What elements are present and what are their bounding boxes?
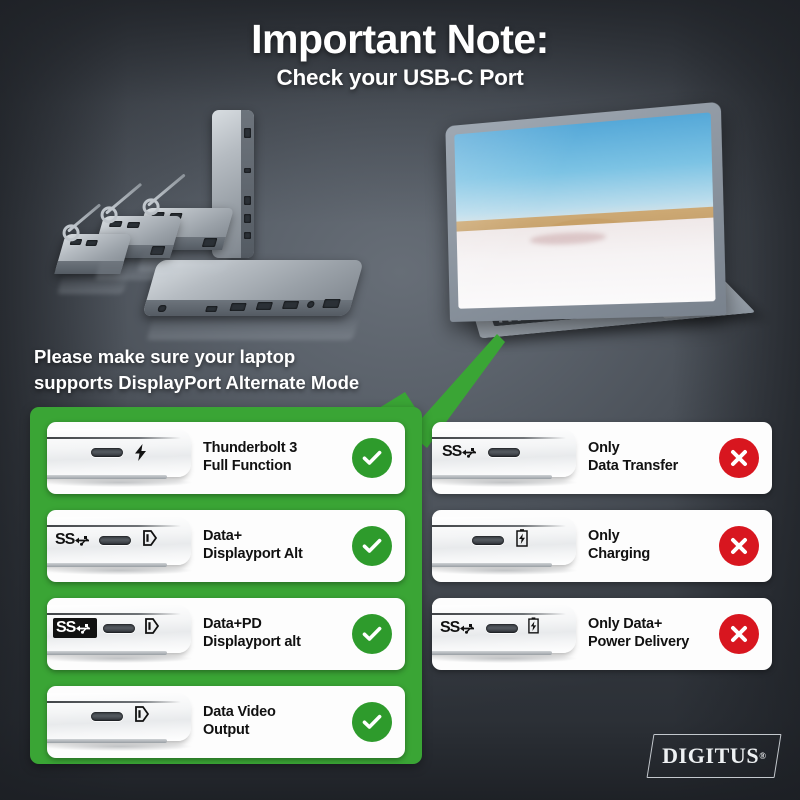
device-photo [47,686,197,758]
device-photo: SS [432,422,582,494]
poster-canvas: Important Note: Check your USB-C Port [0,0,800,800]
superspeed-usb-icon: SS [440,620,478,636]
mode-label: Data+ Displayport Alt [197,528,352,563]
supported-modes-list: Thunderbolt 3 Full Function SS [47,422,405,758]
cross-circle-icon [719,438,759,478]
laptop-photo [442,126,742,358]
mode-label: Data+PD Displayport alt [197,616,352,651]
mode-row-data-pd-displayport-alt[interactable]: SS Data+PD Displayport alt [47,598,405,670]
usb-c-port-icon [486,624,518,633]
superspeed-usb-icon-inverted: SS [53,618,97,638]
device-photo: SS [47,510,197,582]
hub-product-photo [52,108,392,348]
usb-c-port-icon [91,448,123,457]
logo-text: DIGITUS [662,743,759,769]
hub-cable-2 [105,183,142,215]
laptop-screen-wallpaper [454,112,715,308]
mode-label: Data Video Output [197,704,352,739]
superspeed-usb-icon: SS [442,444,480,460]
mode-row-only-data-transfer[interactable]: SS Only Data Transfer [432,422,772,494]
thunderbolt-bolt-icon [135,444,147,461]
mode-label: Only Data+ Power Delivery [582,616,719,651]
hub-cable-3 [147,173,186,206]
mode-label: Thunderbolt 3 Full Function [197,440,352,475]
check-circle-icon [352,526,392,566]
cross-circle-icon [719,526,759,566]
battery-charge-icon [528,617,539,634]
device-photo: SS [47,598,197,670]
check-circle-icon [352,702,392,742]
check-circle-icon [352,438,392,478]
usb-c-port-icon [91,712,123,721]
device-photo [432,510,582,582]
laptop-lid [445,102,726,322]
digitus-logo: DIGITUS® [650,734,778,778]
page-title: Important Note: [0,18,800,61]
displayport-icon [135,706,149,722]
device-photo: SS [432,598,582,670]
mode-row-data-displayport-alt[interactable]: SS Data+ Displayport Alt [47,510,405,582]
check-circle-icon [352,614,392,654]
usb-c-port-icon [99,536,131,545]
usb-c-port-icon [488,448,520,457]
registered-trademark-icon: ® [759,751,766,761]
mode-row-data-video-output[interactable]: Data Video Output [47,686,405,758]
device-photo [47,422,197,494]
usb-c-port-icon [103,624,135,633]
mode-row-only-data-power-delivery[interactable]: SS Only Data+ Power Delivery [432,598,772,670]
mode-label: Only Data Transfer [582,440,719,475]
page-subtitle: Check your USB-C Port [0,65,800,91]
caption-line-1: Please make sure your laptop [34,344,359,370]
displayport-icon [145,618,159,634]
instruction-caption: Please make sure your laptop supports Di… [34,344,359,395]
headline-block: Important Note: Check your USB-C Port [0,18,800,91]
mode-row-thunderbolt3[interactable]: Thunderbolt 3 Full Function [47,422,405,494]
battery-charge-icon [516,529,528,547]
logo-wordmark: DIGITUS® [650,734,778,778]
mode-label: Only Charging [582,528,719,563]
mode-row-only-charging[interactable]: Only Charging [432,510,772,582]
hub-cable-1 [67,203,101,232]
usb-c-port-icon [472,536,504,545]
superspeed-usb-icon: SS [55,532,93,548]
unsupported-modes-list: SS Only Data Transfer [432,422,772,670]
cross-circle-icon [719,614,759,654]
caption-line-2: supports DisplayPort Alternate Mode [34,370,359,396]
displayport-icon [143,530,157,546]
